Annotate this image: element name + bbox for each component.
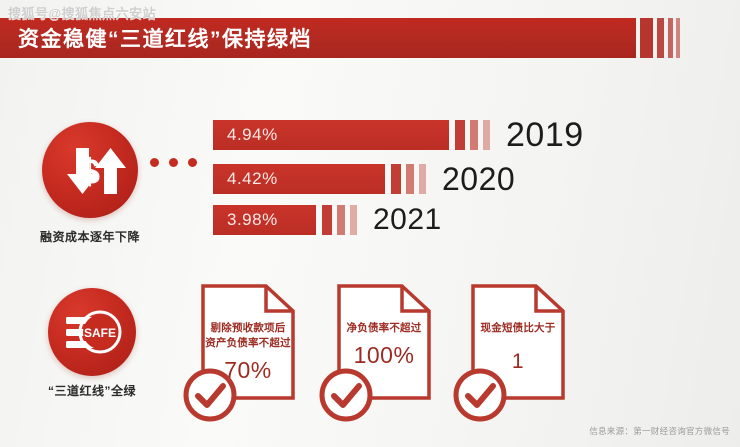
bar-year-2021: 2021	[373, 205, 442, 235]
safe-icon-wrap: SAFE	[48, 288, 136, 376]
rule-card-3-line1: 现金短债比大于	[472, 321, 564, 336]
svg-text:$: $	[80, 151, 100, 192]
bar-fill-2020: 4.42%	[213, 164, 385, 194]
title-stripe-3	[668, 18, 673, 58]
connector-dot	[188, 158, 197, 167]
title-stripe-4	[676, 18, 680, 58]
bar-segment-2021-1	[322, 205, 332, 235]
bar-segment-2021-2	[337, 205, 345, 235]
rule-card-3: 现金短债比大于 1	[470, 283, 566, 401]
bar-segment-2020-1	[391, 164, 401, 194]
title-bar: 资金稳健“三道红线”保持绿档	[0, 18, 636, 58]
rule-card-1-line1: 剔除预收款项后	[202, 321, 294, 336]
check-circle-icon	[318, 367, 374, 423]
bar-year-2020: 2020	[442, 164, 515, 194]
bar-row-2021: 3.98% 2021	[213, 205, 442, 235]
bar-fill-2019: 4.94%	[213, 120, 449, 150]
bar-fill-2021: 3.98%	[213, 205, 316, 235]
check-circle-icon	[182, 367, 238, 423]
infographic-page: 搜狐号@搜狐焦点六安站 资金稳健“三道红线”保持绿档 $ 融资成本逐年下降 4.…	[0, 0, 740, 447]
safe-seal-icon: SAFE	[48, 288, 136, 376]
safe-label: “三道红线”全绿	[22, 382, 162, 399]
rule-card-2-line1: 净负债率不超过	[338, 321, 430, 336]
title-stripe-1	[640, 18, 653, 58]
connector-dot	[150, 158, 159, 167]
page-title: 资金稳健“三道红线”保持绿档	[18, 23, 312, 53]
bar-year-2019: 2019	[506, 120, 584, 150]
title-stripe-2	[657, 18, 664, 58]
connector-dots	[150, 158, 197, 167]
watermark-text: 搜狐号@搜狐焦点六安站	[8, 3, 156, 22]
check-circle-icon	[452, 367, 508, 423]
bar-value-2019: 4.94%	[227, 125, 278, 145]
bar-segment-2019-3	[483, 120, 490, 150]
financing-cost-label: 融资成本逐年下降	[25, 228, 155, 245]
bar-row-2019: 4.94% 2019	[213, 120, 584, 150]
rule-card-2-value: 100%	[338, 342, 430, 369]
connector-dot	[169, 158, 178, 167]
rule-card-1-line2: 资产负债率不超过	[202, 336, 294, 351]
rule-card-2: 净负债率不超过 100%	[336, 283, 432, 401]
bar-segment-2020-2	[406, 164, 414, 194]
bar-row-2020: 4.42% 2020	[213, 164, 515, 194]
bar-value-2020: 4.42%	[227, 169, 278, 189]
rule-card-1: 剔除预收款项后 资产负债率不超过 70%	[200, 283, 296, 401]
dollar-up-down-arrows-icon: $	[42, 122, 138, 218]
bar-segment-2020-3	[419, 164, 426, 194]
safe-icon-text: SAFE	[84, 326, 116, 340]
bar-segment-2019-1	[455, 120, 465, 150]
bar-value-2021: 3.98%	[227, 210, 278, 230]
footer-source-text: 信息来源：第一财经咨询官方微信号	[589, 425, 730, 437]
bar-segment-2019-2	[470, 120, 478, 150]
financing-cost-icon-wrap: $	[42, 122, 138, 218]
bar-segment-2021-3	[350, 205, 357, 235]
